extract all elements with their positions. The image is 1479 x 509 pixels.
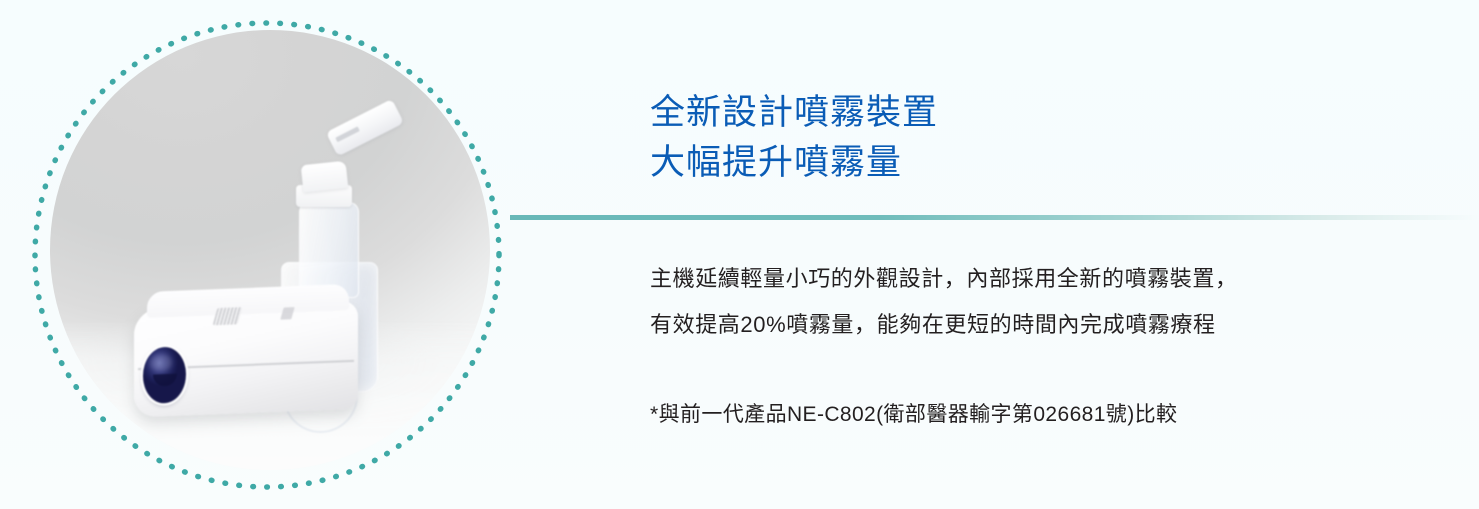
nebulizer-elbow [300,161,347,193]
headline-line-1: 全新設計噴霧裝置 [650,88,938,138]
product-photo-region [22,20,512,509]
headline-line-2: 大幅提升噴霧量 [650,138,938,188]
divider-rule [510,215,1479,220]
compressor-latch [280,307,295,319]
compressor-unit [134,301,358,417]
body-line-1: 主機延續輕量小巧的外觀設計，內部採用全新的噴霧裝置， [650,256,1238,302]
footnote: *與前一代產品NE-C802(衛部醫器輸字第026681號)比較 [650,400,1177,430]
power-knob [143,346,186,404]
mouthpiece [326,99,404,157]
headline: 全新設計噴霧裝置 大幅提升噴霧量 [650,88,938,188]
body-line-2: 有效提高20%噴霧量，能夠在更短的時間內完成噴霧療程 [650,302,1238,348]
product-photo-inner [50,30,490,470]
product-photo [50,30,490,470]
nebulizer-chamber [299,202,359,298]
promo-banner: 全新設計噴霧裝置 大幅提升噴霧量 主機延續輕量小巧的外觀設計，內部採用全新的噴霧… [0,0,1479,509]
body-copy: 主機延續輕量小巧的外觀設計，內部採用全新的噴霧裝置， 有效提高20%噴霧量，能夠… [650,256,1238,348]
compressor-top [147,284,349,318]
compressor-vent [212,307,242,325]
